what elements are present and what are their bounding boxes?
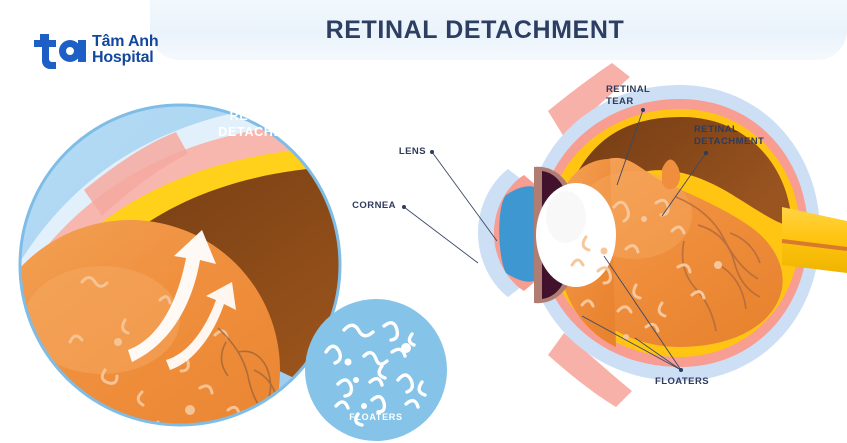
- label-lens: LENS: [370, 146, 426, 158]
- label-retinal-detachment: RETINAL DETACHMENT: [694, 124, 804, 148]
- floaters-inset-caption: FLOATERS: [326, 412, 426, 422]
- label-retinal-tear: RETINAL TEAR: [606, 84, 696, 108]
- infographic-canvas: RETINAL DETACHMENT Tâm Anh Hospital: [0, 0, 847, 443]
- label-floaters: FLOATERS: [637, 376, 727, 388]
- label-cornea: CORNEA: [330, 200, 396, 212]
